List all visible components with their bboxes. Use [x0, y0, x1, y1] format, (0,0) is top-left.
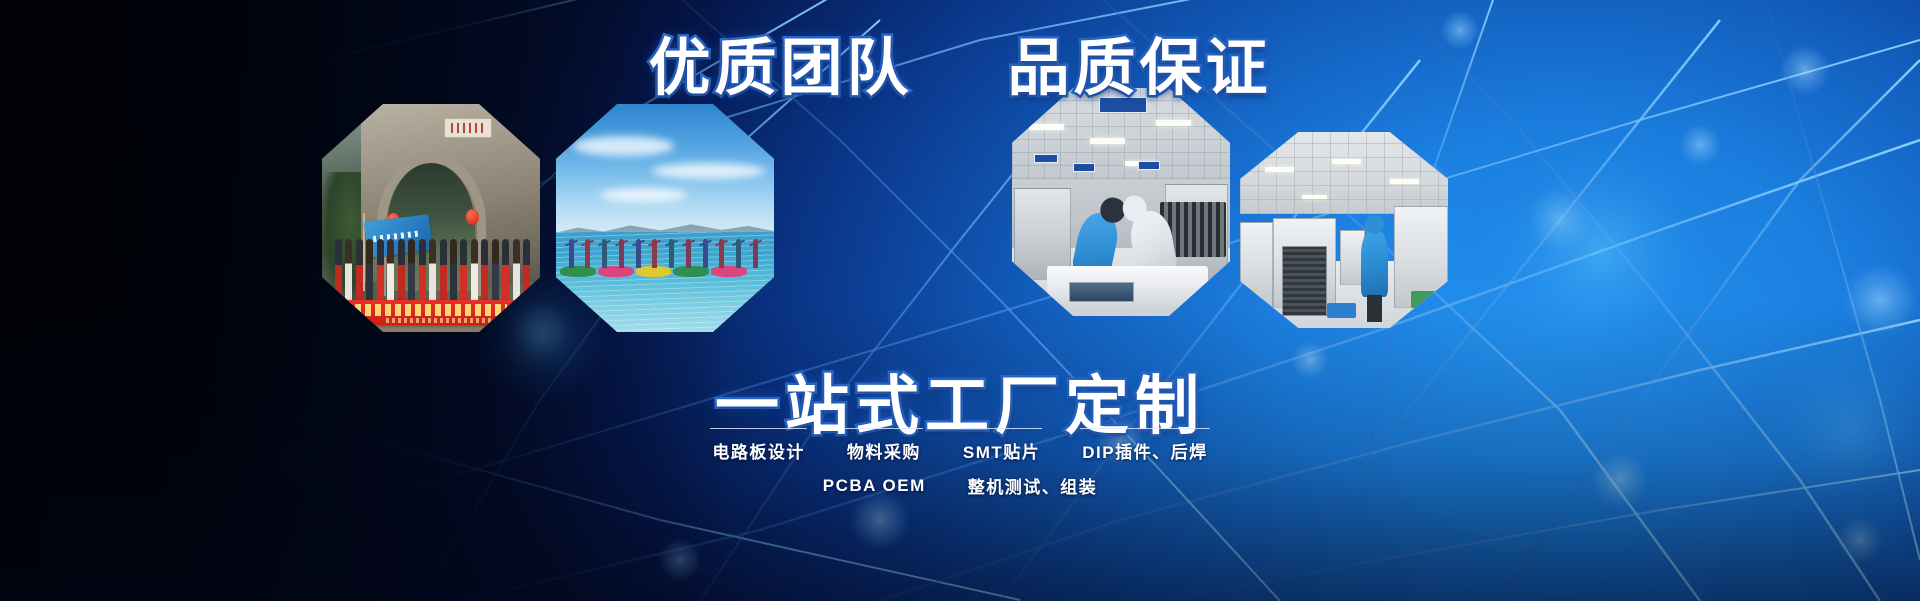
photo2-kayak-row [560, 227, 769, 277]
service-item-smt-mounting: SMT贴片 [959, 432, 1044, 465]
service-item-dip-insertion-soldering: DIP插件、后焊 [1078, 432, 1211, 465]
service-row-1: 电路板设计 物料采购 SMT贴片 DIP插件、后焊 [0, 432, 1920, 465]
photo4-emergency-stop-button [1244, 289, 1256, 301]
photo-gallery [0, 0, 1920, 601]
photo4-blue-bin [1327, 303, 1356, 319]
service-row-2: PCBA OEM 整机测试、组装 [0, 471, 1920, 500]
photo-assembly-workshop-overview [1240, 132, 1448, 328]
photo3-monitor-screen [1069, 282, 1134, 303]
service-item-pcba-oem: PCBA OEM [819, 474, 930, 498]
promo-banner: 优质团队 品质保证 一站式工厂定制 电路板设计 物料采购 SMT贴片 DIP插件… [0, 0, 1920, 601]
service-item-pcb-design: 电路板设计 [708, 432, 809, 465]
photo1-lantern [466, 209, 479, 225]
photo-dragon-boat-team-building [556, 104, 774, 332]
photo1-name-plaque [444, 118, 492, 139]
photo-team-outing-stone-arch [322, 104, 540, 332]
photo2-cloud [600, 188, 687, 202]
photo3-emergency-stop-button [1208, 280, 1221, 293]
photo4-green-crate [1411, 291, 1436, 309]
photo-smt-production-line-workers [1012, 88, 1230, 316]
photo4-worker [1361, 230, 1388, 297]
service-item-testing-assembly: 整机测试、组装 [964, 471, 1102, 500]
photo1-red-caption-banner [331, 300, 514, 325]
service-item-material-sourcing: 物料采购 [843, 432, 925, 465]
photo4-ceiling [1240, 132, 1448, 214]
service-list: 电路板设计 物料采购 SMT贴片 DIP插件、后焊 PCBA OEM 整机测试、… [0, 432, 1920, 506]
photo4-rack-panel [1282, 246, 1328, 317]
photo3-ceiling-sign-pingyiji [1099, 97, 1147, 113]
photo1-group-of-people [331, 239, 540, 307]
